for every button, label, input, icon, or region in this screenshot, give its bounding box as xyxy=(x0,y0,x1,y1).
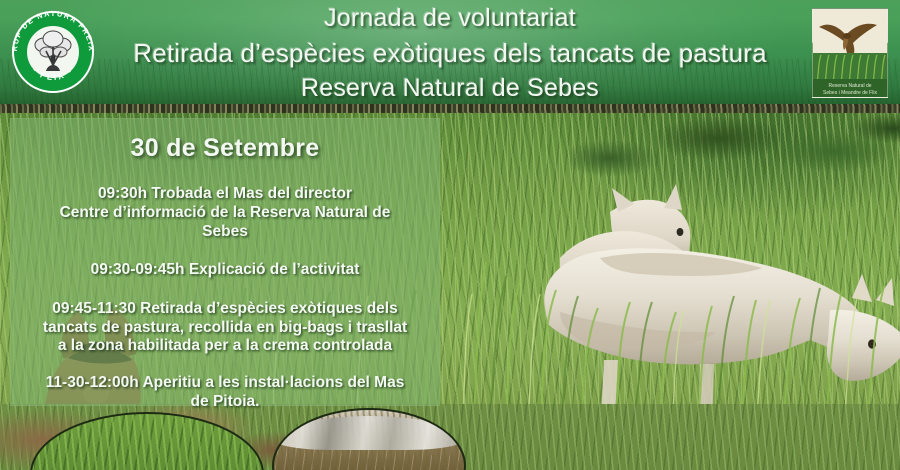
reserve-logo-caption-line2: Sebes i Meandre de Flix xyxy=(823,90,877,96)
page-title-line1: Jornada de voluntariat xyxy=(324,2,576,31)
schedule-entry-1130-1200: 11-30-12:00h Aperitiu a les instal·lacio… xyxy=(20,374,430,412)
schedule-line: tancats de pastura, recollida en big-bag… xyxy=(20,319,430,338)
page-title-line2: Retirada d’espècies exòtiques dels tanca… xyxy=(133,31,767,66)
schedule-line: 11-30-12:00h Aperitiu a les instal·lacio… xyxy=(20,374,430,393)
event-date: 30 de Setembre xyxy=(130,134,319,163)
schedule-line: de Pitoia. xyxy=(20,393,430,412)
schedule-entry-0930-0945: 09:30-09:45h Explicació de l’activitat xyxy=(20,261,430,280)
schedule-panel: 30 de Setembre 09:30h Trobada el Mas del… xyxy=(10,118,440,406)
schedule-entry-0930: 09:30h Trobada el Mas del director Centr… xyxy=(20,185,430,242)
reserve-logo-caption-line1: Reserva Natural de xyxy=(828,83,871,89)
schedule-line: 09:30-09:45h Explicació de l’activitat xyxy=(20,261,430,280)
schedule-line: Sebes xyxy=(20,223,430,242)
schedule-line: 09:30h Trobada el Mas del director xyxy=(20,185,430,204)
header-banner: Jornada de voluntariat Retirada d’espèci… xyxy=(0,0,900,105)
header-divider xyxy=(0,104,900,113)
schedule-line: 09:45-11:30 Retirada d’espècies exòtique… xyxy=(20,300,430,319)
reserva-natural-sebes-logo: Reserva Natural de Sebes i Meandre de Fl… xyxy=(812,8,888,98)
header-titles: Jornada de voluntariat Retirada d’espèci… xyxy=(110,2,790,102)
schedule-line: a la zona habilitada per a la crema cont… xyxy=(20,337,430,356)
schedule-line: Centre d’informació de la Reserva Natura… xyxy=(20,204,430,223)
grup-de-natura-freixe-logo: GRUP DE NATURA FREIXE - FLIX - xyxy=(6,5,100,99)
page-title-line3: Reserva Natural de Sebes xyxy=(301,66,599,101)
poster: Jornada de voluntariat Retirada d’espèci… xyxy=(0,0,900,470)
schedule-entry-0945-1130: 09:45-11:30 Retirada d’espècies exòtique… xyxy=(20,300,430,357)
